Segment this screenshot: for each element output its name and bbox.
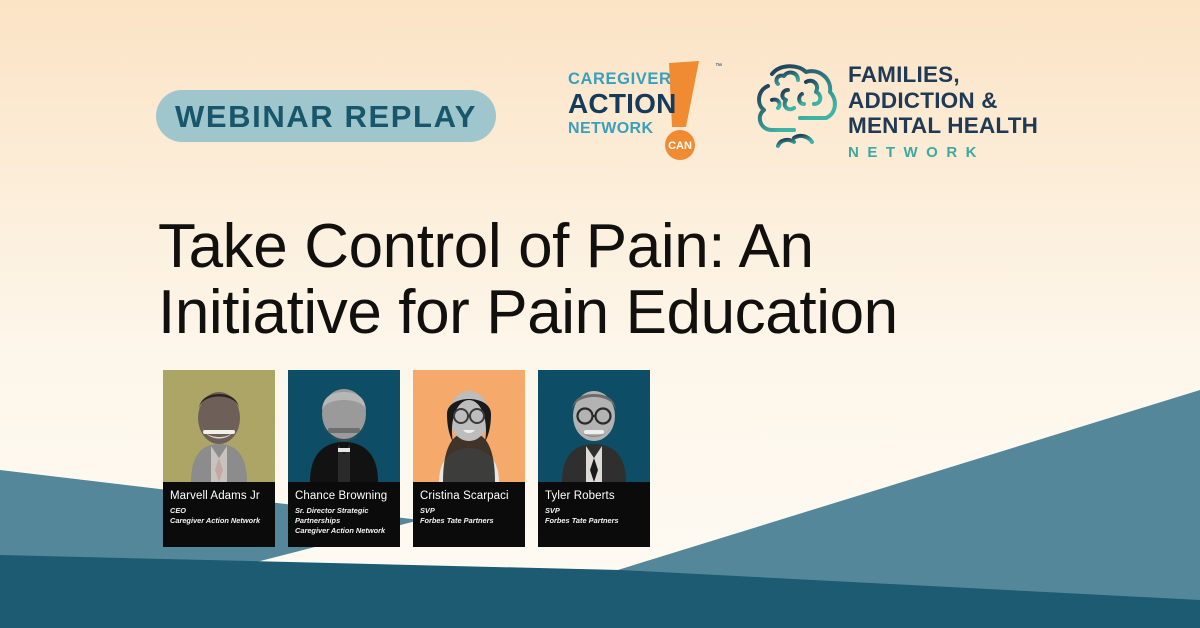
famh-wordmark: FAMILIES, ADDICTION & MENTAL HEALTH NETW… [848,62,1038,160]
speaker-org: Caregiver Action Network [295,526,393,536]
speaker-name: Tyler Roberts [545,490,643,503]
caregiver-action-network-logo: CAN CAREGIVER ACTION NETWORK ™ [568,55,720,160]
speaker-card: Cristina Scarpaci SVP Forbes Tate Partne… [413,370,525,547]
speaker-card: Chance Browning Sr. Director Strategic P… [288,370,400,547]
speaker-role: CEO [170,506,268,516]
families-addiction-mental-health-network-logo: FAMILIES, ADDICTION & MENTAL HEALTH NETW… [748,56,1060,160]
speaker-org: Caregiver Action Network [170,516,268,526]
trademark-symbol: ™ [715,63,722,70]
speaker-photo [288,370,400,482]
speaker-photo [538,370,650,482]
webinar-replay-badge-label: WEBINAR REPLAY [175,101,477,132]
speaker-card: Tyler Roberts SVP Forbes Tate Partners [538,370,650,547]
speaker-meta: Marvell Adams Jr CEO Caregiver Action Ne… [163,482,275,547]
speaker-meta: Chance Browning Sr. Director Strategic P… [288,482,400,547]
speaker-photo [163,370,275,482]
speaker-card-list: Marvell Adams Jr CEO Caregiver Action Ne… [163,370,650,547]
page-title: Take Control of Pain: An Initiative for … [158,214,1018,347]
portrait-icon [288,370,400,482]
speaker-org: Forbes Tate Partners [545,516,643,526]
speaker-card: Marvell Adams Jr CEO Caregiver Action Ne… [163,370,275,547]
can-line-caregiver: CAREGIVER [568,71,686,88]
portrait-icon [413,370,525,482]
famh-line-families: FAMILIES, [848,62,1038,88]
speaker-org: Forbes Tate Partners [420,516,518,526]
speaker-name: Marvell Adams Jr [170,490,268,503]
portrait-icon [538,370,650,482]
speaker-photo [413,370,525,482]
can-line-action: ACTION [568,90,686,118]
famh-line-mental-health: MENTAL HEALTH [848,113,1038,139]
speaker-name: Cristina Scarpaci [420,490,518,503]
can-line-network: NETWORK [568,121,686,137]
svg-text:CAN: CAN [668,140,692,152]
page-title-line-1: Take Control of Pain: An [158,212,814,281]
page-title-line-2: Initiative for Pain Education [158,278,898,347]
portrait-icon [163,370,275,482]
famh-line-addiction: ADDICTION & [848,88,1038,114]
speaker-role: Sr. Director Strategic Partnerships [295,506,393,526]
speaker-role: SVP [420,506,518,516]
brain-icon [748,56,844,156]
caregiver-action-network-wordmark: CAREGIVER ACTION NETWORK [568,71,686,137]
webinar-replay-promo-card: WEBINAR REPLAY CAN CAREGIVER ACTION NETW… [0,0,1200,628]
speaker-meta: Cristina Scarpaci SVP Forbes Tate Partne… [413,482,525,547]
famh-line-network: NETWORK [848,145,1038,160]
speaker-meta: Tyler Roberts SVP Forbes Tate Partners [538,482,650,547]
speaker-name: Chance Browning [295,490,393,503]
speaker-role: SVP [545,506,643,516]
webinar-replay-badge: WEBINAR REPLAY [156,90,496,142]
